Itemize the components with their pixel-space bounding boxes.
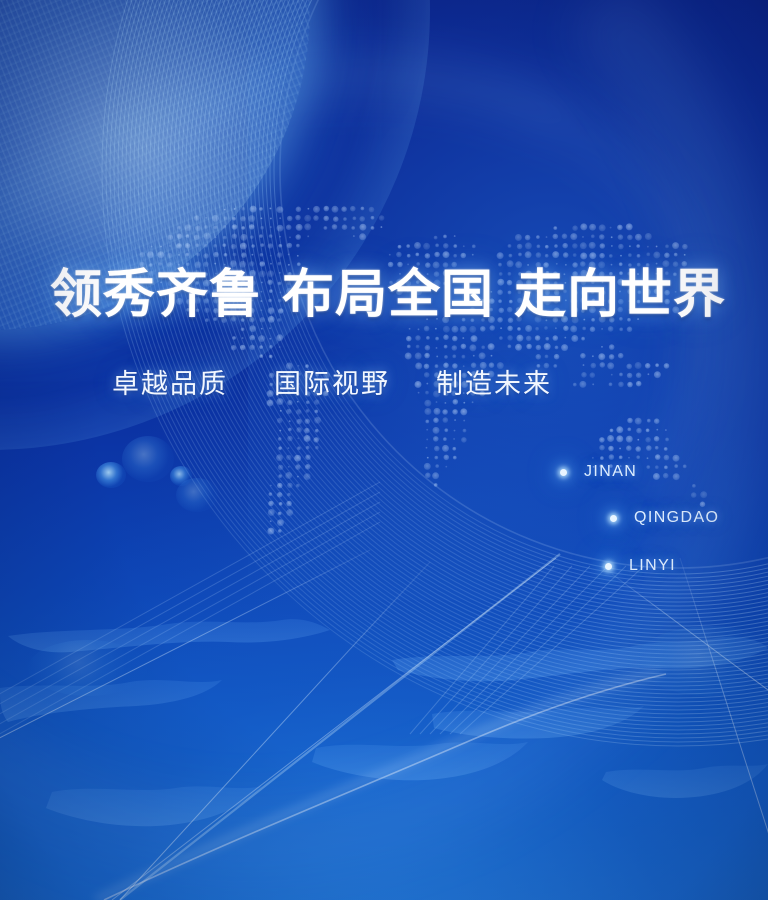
line-bundle-fan <box>404 566 654 736</box>
city-marker-jinan[interactable]: JINAN <box>560 463 637 481</box>
location-dot-icon <box>610 515 617 522</box>
banner-subline: 卓越品质国际视野制造未来 <box>112 369 552 401</box>
light-sweep-arc-outer <box>0 0 768 880</box>
location-dot-icon <box>560 469 567 476</box>
city-label-jinan: JINAN <box>584 463 637 481</box>
city-label-linyi: LINYI <box>629 557 676 575</box>
light-orb-3 <box>176 478 218 512</box>
location-dot-icon <box>605 563 612 570</box>
banner-headline: 领秀齐鲁布局全国走向世界 <box>50 266 726 324</box>
ambient-glow-bottom <box>0 480 768 900</box>
perspective-grid-floor <box>0 540 768 900</box>
light-orb-6 <box>636 626 768 696</box>
light-orb-1 <box>96 462 126 488</box>
light-orb-4 <box>170 466 192 486</box>
light-orb-2 <box>122 436 174 482</box>
light-orb-5 <box>28 640 148 696</box>
city-marker-linyi[interactable]: LINYI <box>605 557 676 575</box>
headline-phrase-2: 布局全国 <box>282 264 494 325</box>
subline-phrase-2: 国际视野 <box>274 369 390 400</box>
city-label-qingdao: QINGDAO <box>634 509 719 527</box>
subline-phrase-1: 卓越品质 <box>112 369 228 400</box>
line-bundle-left <box>0 430 380 760</box>
subline-phrase-3: 制造未来 <box>436 369 552 400</box>
headline-phrase-3: 走向世界 <box>514 264 726 325</box>
hero-banner: 领秀齐鲁布局全国走向世界 卓越品质国际视野制造未来 JINAN QINGDAO … <box>0 0 768 900</box>
city-marker-qingdao[interactable]: QINGDAO <box>610 509 719 527</box>
vignette-overlay <box>0 0 768 900</box>
headline-phrase-1: 领秀齐鲁 <box>50 264 262 325</box>
